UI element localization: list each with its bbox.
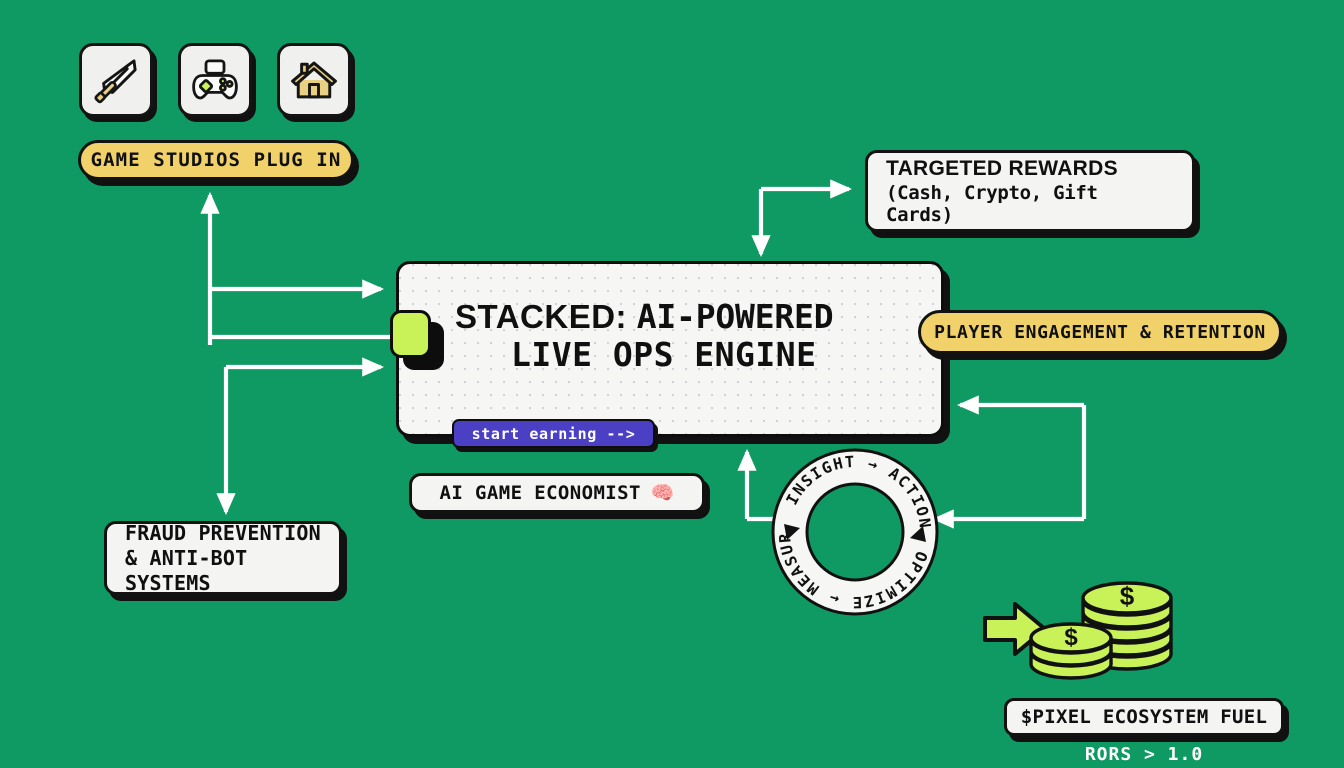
gamepad-icon-glyph (188, 53, 242, 107)
pixel-ecosystem-fuel-label: $PIXEL ECOSYSTEM FUEL (1021, 706, 1268, 728)
player-engagement-label: PLAYER ENGAGEMENT & RETENTION (934, 322, 1266, 343)
ai-game-economist-card[interactable]: AI GAME ECONOMIST 🧠 (409, 473, 705, 513)
hero-accent-knob[interactable] (390, 310, 431, 358)
game-studios-pill[interactable]: GAME STUDIOS PLUG IN (78, 140, 354, 180)
game-studios-label: GAME STUDIOS PLUG IN (91, 149, 342, 171)
rors-metric-label: RORS > 1.0 (1004, 744, 1284, 765)
sword-icon-glyph (89, 53, 143, 107)
targeted-rewards-title: TARGETED REWARDS (886, 157, 1174, 181)
hero-title-line2: LIVE OPS ENGINE (455, 336, 911, 374)
coin-dollar-symbol-front: $ (1064, 624, 1078, 651)
coin-dollar-symbol-back: $ (1120, 581, 1135, 611)
coin-stack-illustration: $ $ (975, 570, 1205, 680)
fraud-prevention-card[interactable]: FRAUD PREVENTION & ANTI-BOT SYSTEMS (104, 521, 342, 595)
hero-title-strong: STACKED: (455, 298, 637, 335)
hero-title-line1: STACKED: AI-POWERED (455, 298, 911, 336)
ai-game-economist-label: AI GAME ECONOMIST (440, 482, 641, 504)
loop-ring-glyph: INSIGHT → ACTION ↓ OPTIMIZE ← MEASURE ← (770, 450, 940, 605)
player-engagement-pill[interactable]: PLAYER ENGAGEMENT & RETENTION (918, 310, 1282, 354)
fraud-prevention-line1: FRAUD PREVENTION (125, 521, 321, 546)
house-icon-glyph (287, 53, 341, 107)
coin-stack-glyph: $ $ (975, 570, 1205, 680)
fraud-prevention-line2: & ANTI-BOT SYSTEMS (125, 546, 321, 596)
insight-action-loop: INSIGHT → ACTION ↓ OPTIMIZE ← MEASURE ← (770, 450, 940, 605)
start-earning-button[interactable]: start earning --> (452, 419, 655, 448)
gamepad-icon[interactable] (178, 43, 252, 117)
targeted-rewards-card[interactable]: TARGETED REWARDS (Cash, Crypto, Gift Car… (865, 150, 1195, 232)
sword-icon[interactable] (79, 43, 153, 117)
hero-title-mono: AI-POWERED (637, 297, 834, 336)
pixel-ecosystem-fuel-card[interactable]: $PIXEL ECOSYSTEM FUEL (1004, 698, 1284, 736)
hero-card[interactable]: STACKED: AI-POWERED LIVE OPS ENGINE (396, 261, 944, 437)
start-earning-label: start earning --> (472, 425, 636, 443)
targeted-rewards-subtitle: (Cash, Crypto, Gift Cards) (886, 182, 1174, 226)
diagram-canvas: GAME STUDIOS PLUG IN STACKED: AI-POWERED… (0, 0, 1344, 768)
house-icon[interactable] (277, 43, 351, 117)
brain-icon: 🧠 (651, 484, 675, 503)
